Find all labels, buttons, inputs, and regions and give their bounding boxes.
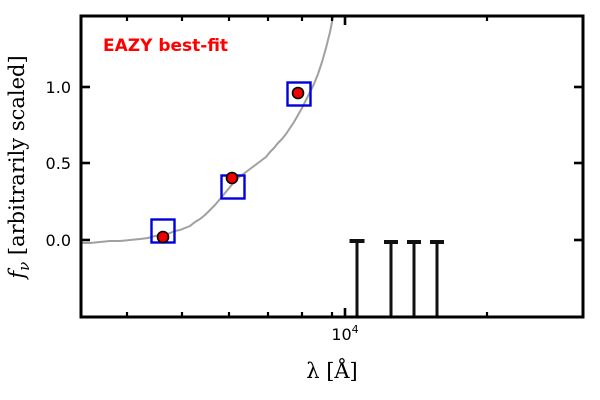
y-tick-label-0: 1.0	[46, 78, 71, 97]
figure-background	[0, 0, 600, 400]
filter-bar-1	[390, 240, 393, 317]
y-tick-label-1: 0.5	[46, 154, 71, 173]
observed-photometry-point-2	[293, 88, 304, 99]
filter-bar-cap-1	[384, 240, 398, 244]
filter-bar-3	[436, 240, 439, 317]
x-axis-title: λ [Å]	[306, 358, 358, 383]
filter-bar-cap-0	[350, 239, 365, 243]
eazy-best-fit-label: EAZY best-fit	[103, 36, 228, 56]
plot-canvas: 1.00.50.0104 λ [Å] fν [arbitrarily scale…	[0, 0, 600, 400]
observed-photometry-point-0	[158, 232, 169, 243]
filter-bar-cap-3	[430, 240, 444, 244]
y-tick-label-2: 0.0	[46, 231, 71, 250]
plot-annotations: EAZY best-fit	[103, 36, 228, 56]
eazy-sed-figure: 1.00.50.0104 λ [Å] fν [arbitrarily scale…	[0, 0, 600, 400]
y-axis-title: fν [arbitrarily scaled]	[5, 55, 33, 280]
observed-photometry-point-1	[227, 173, 238, 184]
filter-bar-2	[413, 240, 416, 317]
filter-bar-cap-2	[407, 240, 421, 244]
filter-bar-0	[356, 239, 359, 317]
